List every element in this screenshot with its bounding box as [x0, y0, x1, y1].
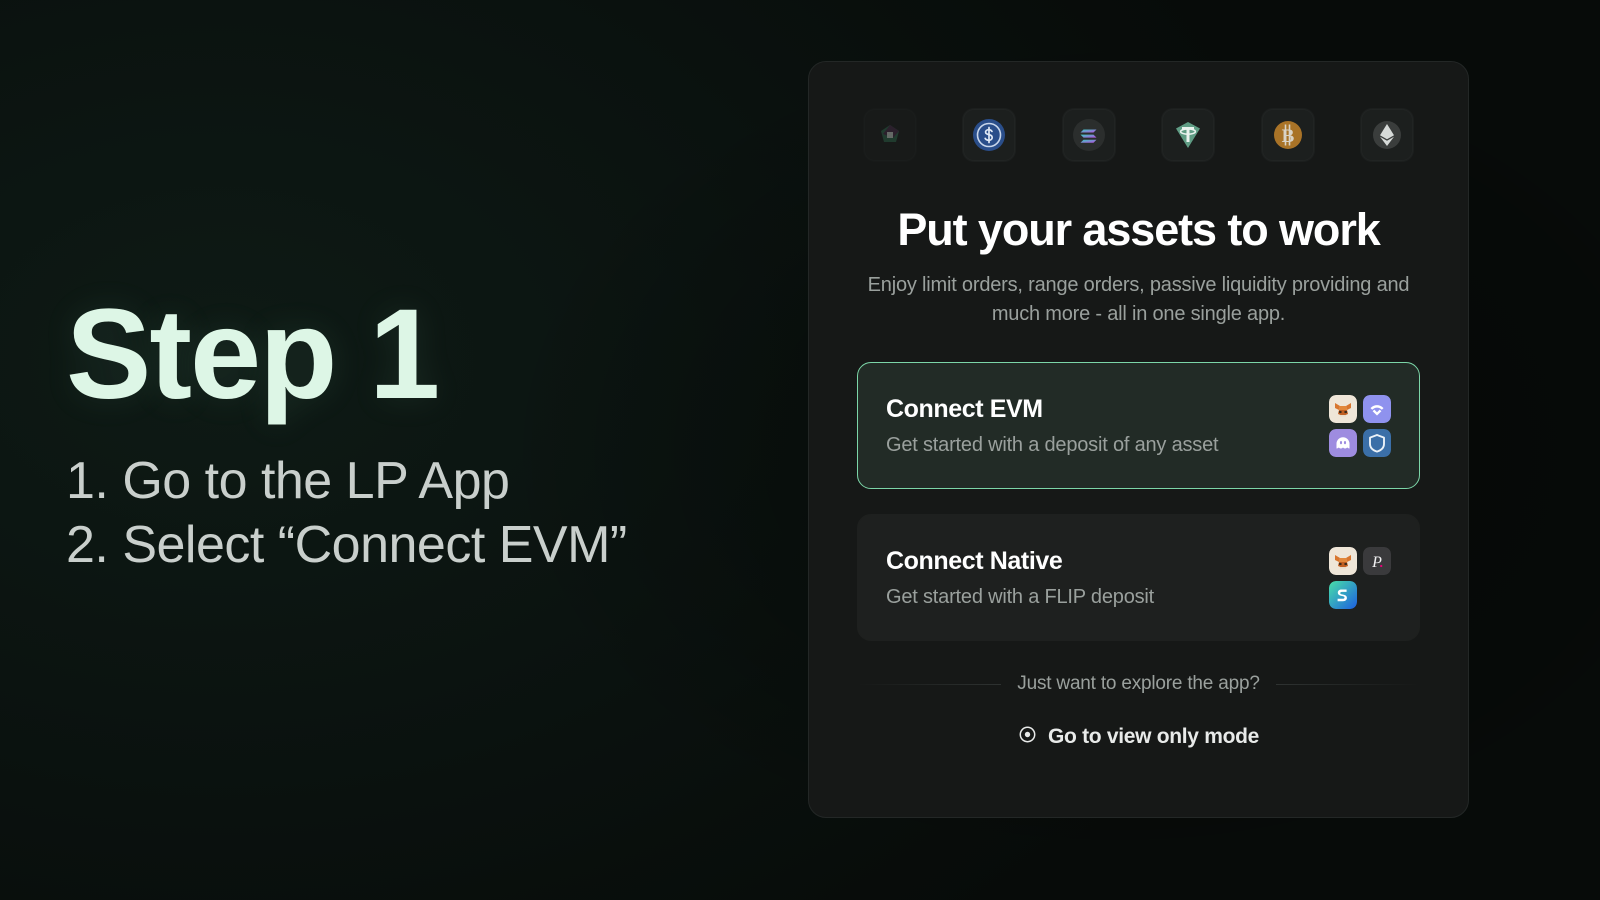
list-item: 2. Select “Connect EVM” — [66, 513, 826, 577]
tether-token-icon — [1161, 108, 1215, 162]
rabby-wallet-icon — [1363, 429, 1391, 457]
connect-evm-subtitle: Get started with a deposit of any asset — [886, 434, 1218, 457]
subwallet-wallet-icon — [1329, 581, 1357, 609]
connect-evm-text: Connect EVM Get started with a deposit o… — [886, 395, 1218, 457]
divider-right — [1276, 684, 1420, 685]
connect-wallet-panel: B Put your assets to work Enjoy limit or… — [808, 61, 1469, 818]
explore-label: Just want to explore the app? — [1017, 673, 1259, 695]
svg-text:P: P — [1371, 554, 1382, 571]
evm-wallet-icons — [1329, 395, 1391, 457]
divider-left — [857, 684, 1001, 685]
step-list: 1. Go to the LP App 2. Select “Connect E… — [66, 449, 826, 578]
panel-subheadline: Enjoy limit orders, range orders, passiv… — [859, 271, 1419, 328]
chainflip-token-icon — [863, 108, 917, 162]
connect-evm-title: Connect EVM — [886, 395, 1218, 424]
supported-tokens-strip: B — [857, 108, 1420, 162]
polkadot-wallet-icon: P — [1363, 547, 1391, 575]
metamask-wallet-icon — [1329, 395, 1357, 423]
ethereum-token-icon — [1360, 108, 1414, 162]
view-only-mode-label: Go to view only mode — [1048, 725, 1259, 749]
list-item: 1. Go to the LP App — [66, 449, 826, 513]
walletconnect-wallet-icon — [1363, 395, 1391, 423]
page-title: Step 1 — [66, 290, 826, 421]
native-wallet-icons: P — [1329, 547, 1391, 609]
metamask-wallet-icon — [1329, 547, 1357, 575]
connect-evm-option[interactable]: Connect EVM Get started with a deposit o… — [857, 362, 1420, 489]
phantom-wallet-icon — [1329, 429, 1357, 457]
connect-native-option[interactable]: Connect Native Get started with a FLIP d… — [857, 514, 1420, 641]
instructions-panel: Step 1 1. Go to the LP App 2. Select “Co… — [66, 290, 826, 577]
solana-token-icon — [1062, 108, 1116, 162]
page-root: Step 1 1. Go to the LP App 2. Select “Co… — [0, 0, 1600, 900]
view-only-mode-button[interactable]: Go to view only mode — [857, 725, 1420, 749]
bitcoin-token-icon: B — [1261, 108, 1315, 162]
svg-text:B: B — [1281, 126, 1294, 147]
connect-native-text: Connect Native Get started with a FLIP d… — [886, 547, 1154, 609]
target-eye-icon — [1018, 725, 1037, 749]
connect-native-subtitle: Get started with a FLIP deposit — [886, 586, 1154, 609]
connect-native-title: Connect Native — [886, 547, 1154, 576]
usdc-token-icon — [962, 108, 1016, 162]
panel-headline: Put your assets to work — [857, 206, 1420, 253]
explore-divider: Just want to explore the app? — [857, 673, 1420, 695]
